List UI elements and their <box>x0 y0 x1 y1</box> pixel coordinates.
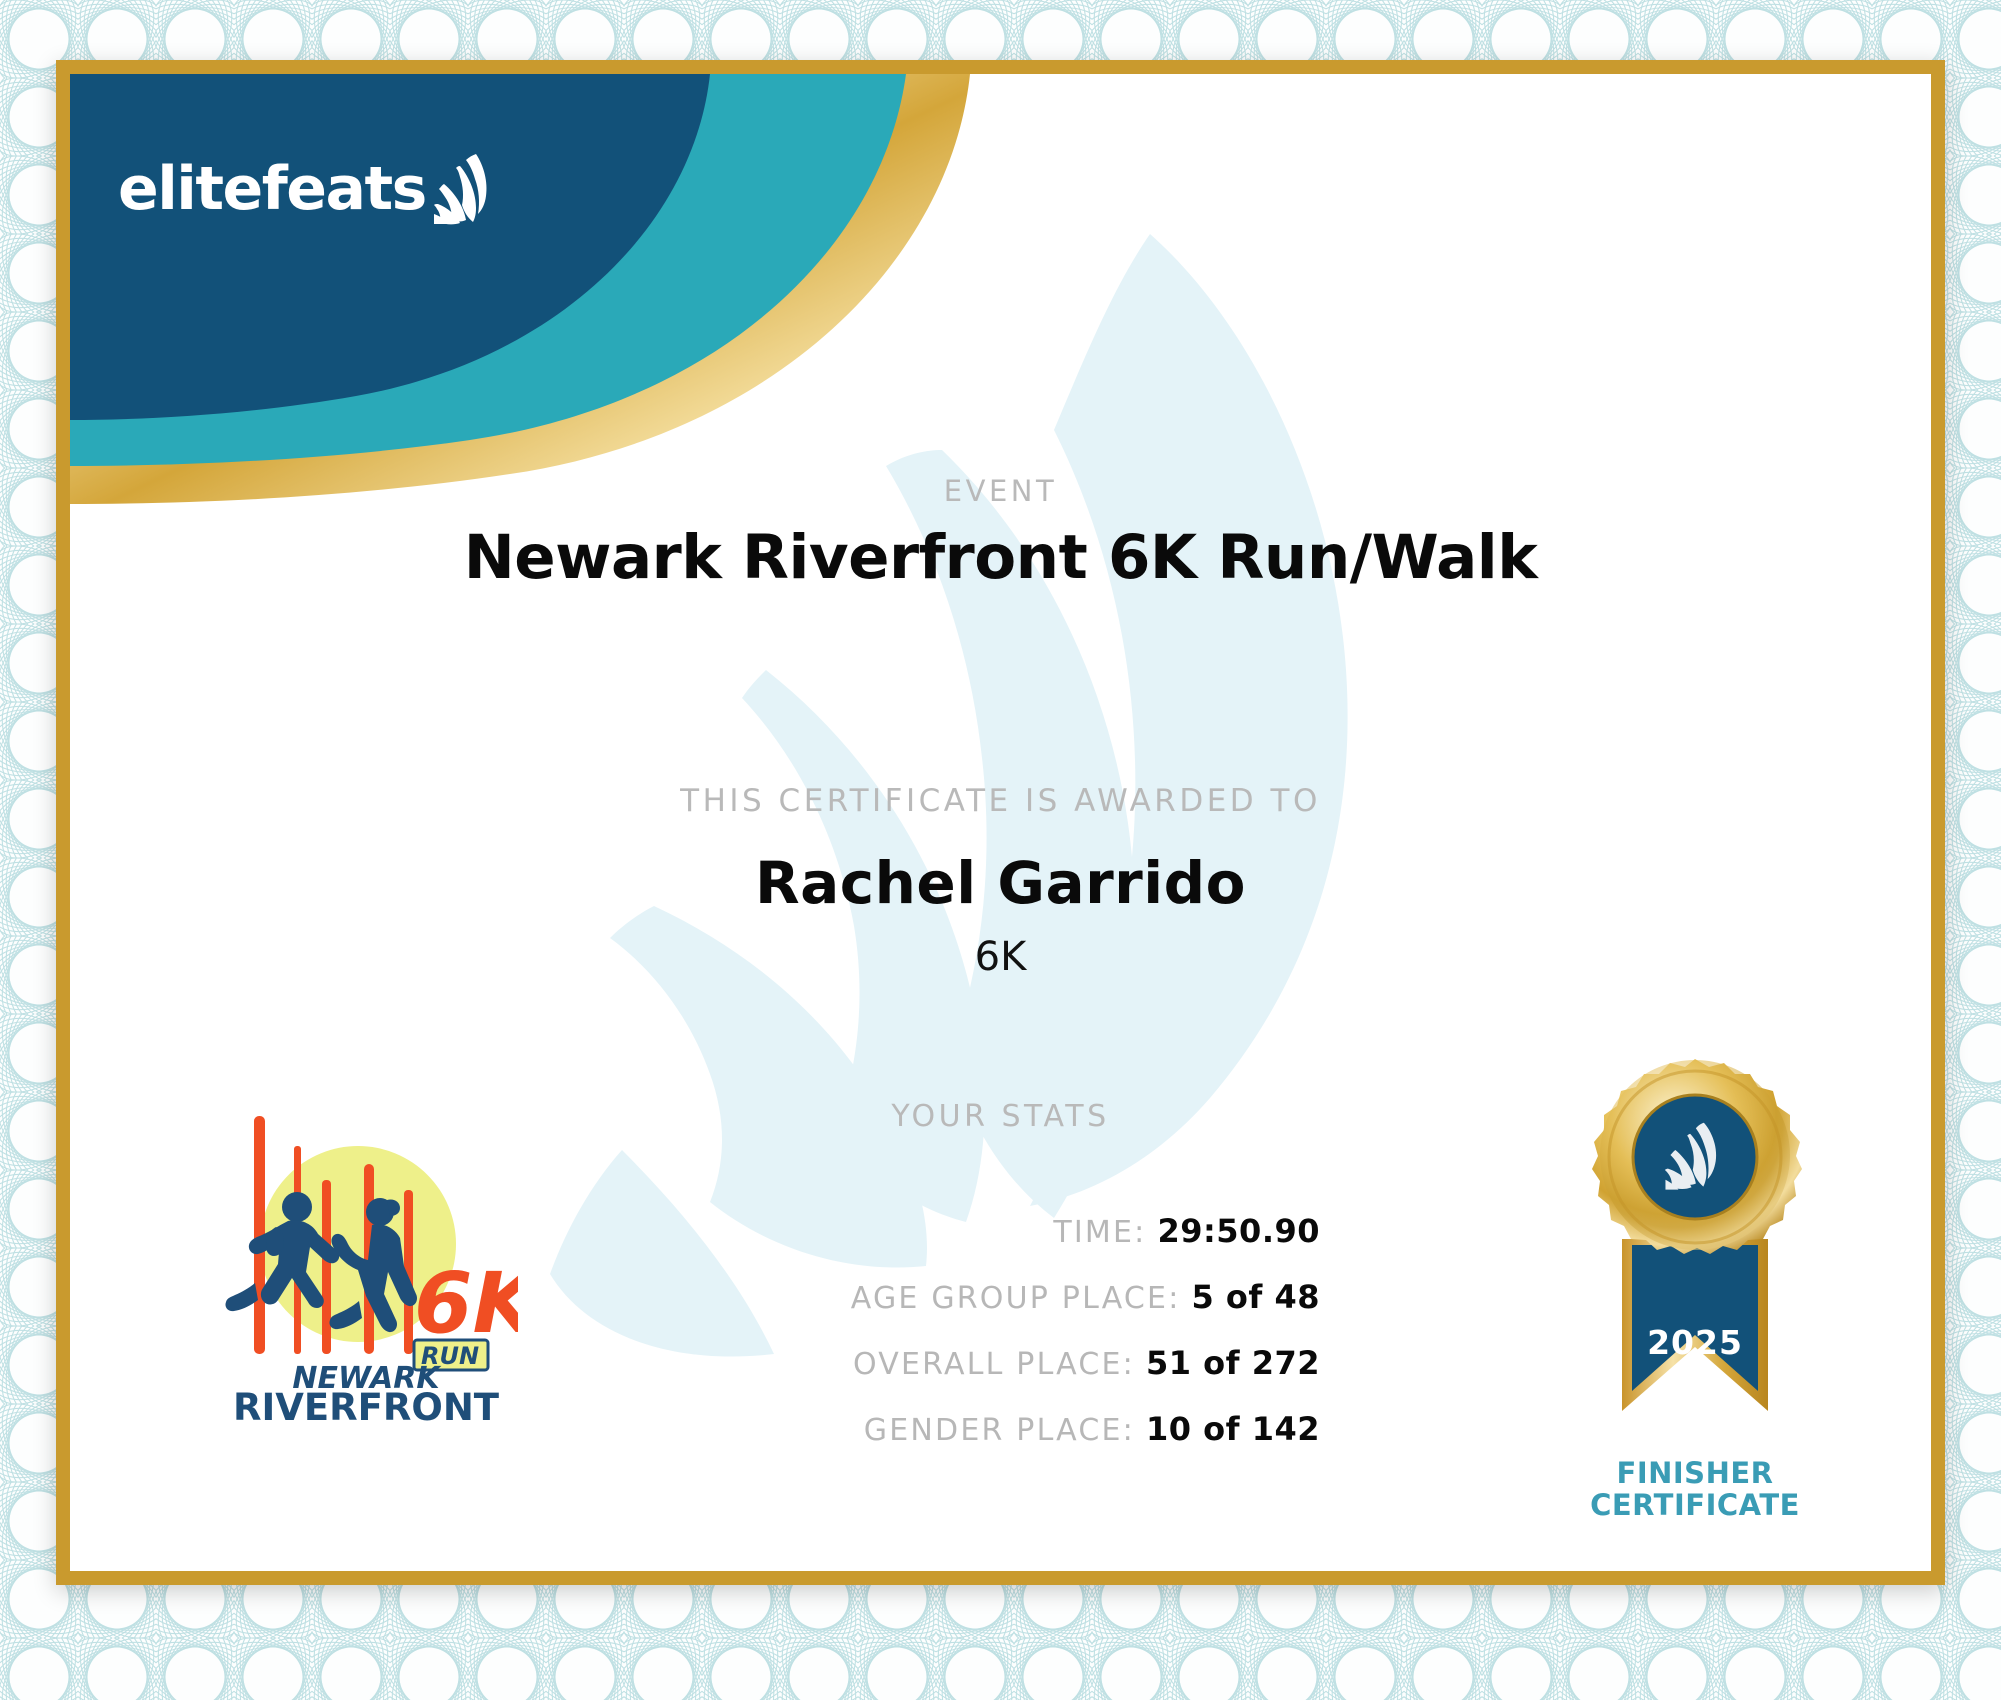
stat-label-time: TIME: <box>1053 1215 1146 1250</box>
certificate-root: elitefeats EVENT Newark Riverfront 6K Ru… <box>0 0 2001 1700</box>
stat-value-gender-place: 10 of 142 <box>1146 1410 1320 1448</box>
finisher-caption-line2: CERTIFICATE <box>1590 1488 1800 1522</box>
race-logo-line2: RIVERFRONT <box>233 1386 500 1424</box>
stat-label-age-group-place: AGE GROUP PLACE: <box>851 1281 1181 1316</box>
recipient-division: 6K <box>70 934 1931 980</box>
certificate-content: EVENT Newark Riverfront 6K Run/Walk THIS… <box>70 74 1931 1571</box>
certificate-gold-frame: elitefeats EVENT Newark Riverfront 6K Ru… <box>56 60 1945 1585</box>
stat-value-overall-place: 51 of 272 <box>1146 1344 1320 1382</box>
race-event-logo: 6K RUN NEWARK RIVERFRONT <box>218 1094 518 1424</box>
finisher-caption: FINISHER CERTIFICATE <box>1542 1457 1848 1522</box>
event-label: EVENT <box>70 474 1931 508</box>
stat-label-overall-place: OVERALL PLACE: <box>853 1347 1135 1382</box>
svg-text:6K: 6K <box>414 1254 518 1352</box>
badge-year: 2025 <box>1550 1323 1840 1362</box>
finisher-caption-line1: FINISHER <box>1617 1456 1774 1490</box>
event-title: Newark Riverfront 6K Run/Walk <box>70 522 1931 593</box>
stat-label-gender-place: GENDER PLACE: <box>864 1413 1135 1448</box>
finisher-badge: 2025 FINISHER CERTIFICATE <box>1550 1039 1890 1509</box>
stat-value-age-group-place: 5 of 48 <box>1192 1278 1320 1316</box>
stat-value-time: 29:50.90 <box>1157 1212 1320 1250</box>
recipient-name: Rachel Garrido <box>70 849 1931 917</box>
certificate-page: elitefeats EVENT Newark Riverfront 6K Ru… <box>70 74 1931 1571</box>
finisher-medal-graphic <box>1550 1039 1890 1449</box>
awarded-to-label: THIS CERTIFICATE IS AWARDED TO <box>70 783 1931 819</box>
